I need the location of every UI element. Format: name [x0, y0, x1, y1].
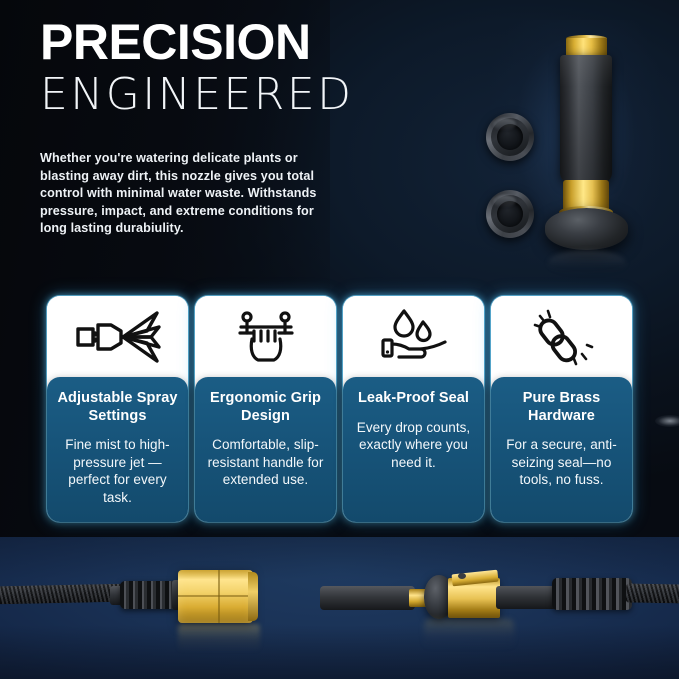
chain-link-icon	[491, 296, 632, 378]
hero-description: Whether you're watering delicate plants …	[40, 150, 340, 238]
feature-card-title: Leak-Proof Seal	[351, 390, 476, 408]
feature-card-adjustable-spray[interactable]: Adjustable Spray Settings Fine mist to h…	[47, 296, 188, 522]
feature-card-pure-brass[interactable]: Pure Brass Hardware For a secure, anti-s…	[491, 296, 632, 522]
product-hero-image	[460, 10, 679, 280]
valve-pivot-knob	[458, 573, 466, 579]
feature-card-title: Adjustable Spray Settings	[55, 390, 180, 425]
brass-coupler-cap-left	[248, 572, 258, 621]
nozzle-reflection	[548, 250, 626, 276]
valve-reflection	[424, 619, 514, 649]
headline-line-2: ENGINEERED	[40, 70, 460, 120]
feature-card-desc: For a secure, anti-seizing seal—no tools…	[499, 436, 624, 489]
rubber-washer-top	[486, 113, 534, 161]
page-title: PRECISION ENGINEERED	[40, 16, 460, 120]
infographic-page: PRECISION ENGINEERED Whether you're wate…	[0, 0, 679, 679]
hand-grip-icon	[195, 296, 336, 378]
spray-nozzle-icon	[47, 296, 188, 378]
feature-card-desc: Fine mist to high-pressure jet — perfect…	[55, 436, 180, 506]
headline-line-1: PRECISION	[40, 16, 460, 68]
hose-strain-relief-right	[552, 578, 632, 610]
feature-card-ergonomic-grip[interactable]: Ergonomic Grip Design Comfortable, slip-…	[195, 296, 336, 522]
hose-strain-relief-left	[120, 581, 178, 609]
hose-tube-right	[320, 586, 415, 610]
hose-braided-right	[626, 583, 679, 603]
feature-card-title: Ergonomic Grip Design	[203, 390, 328, 425]
nozzle-barrel	[560, 55, 612, 183]
feature-card-leak-proof-seal[interactable]: Leak-Proof Seal Every drop counts, exact…	[343, 296, 484, 522]
feature-card-body: Adjustable Spray Settings Fine mist to h…	[47, 377, 188, 522]
feature-card-body: Ergonomic Grip Design Comfortable, slip-…	[195, 377, 336, 522]
nozzle-base	[545, 208, 628, 250]
feature-card-desc: Comfortable, slip-resistant handle for e…	[203, 436, 328, 489]
water-drop-hand-icon	[343, 296, 484, 378]
hose-tube-right-2	[496, 586, 560, 609]
feature-card-desc: Every drop counts, exactly where you nee…	[351, 419, 476, 472]
rubber-washer-bottom	[486, 190, 534, 238]
feature-card-title: Pure Brass Hardware	[499, 390, 624, 425]
brass-coupler-seam-h	[178, 595, 253, 597]
brass-coupler-reflection	[178, 624, 260, 652]
hose-braided-left	[0, 584, 126, 605]
feature-card-body: Pure Brass Hardware For a secure, anti-s…	[491, 377, 632, 522]
feature-card-body: Leak-Proof Seal Every drop counts, exact…	[343, 377, 484, 522]
feature-cards: Adjustable Spray Settings Fine mist to h…	[47, 296, 632, 522]
